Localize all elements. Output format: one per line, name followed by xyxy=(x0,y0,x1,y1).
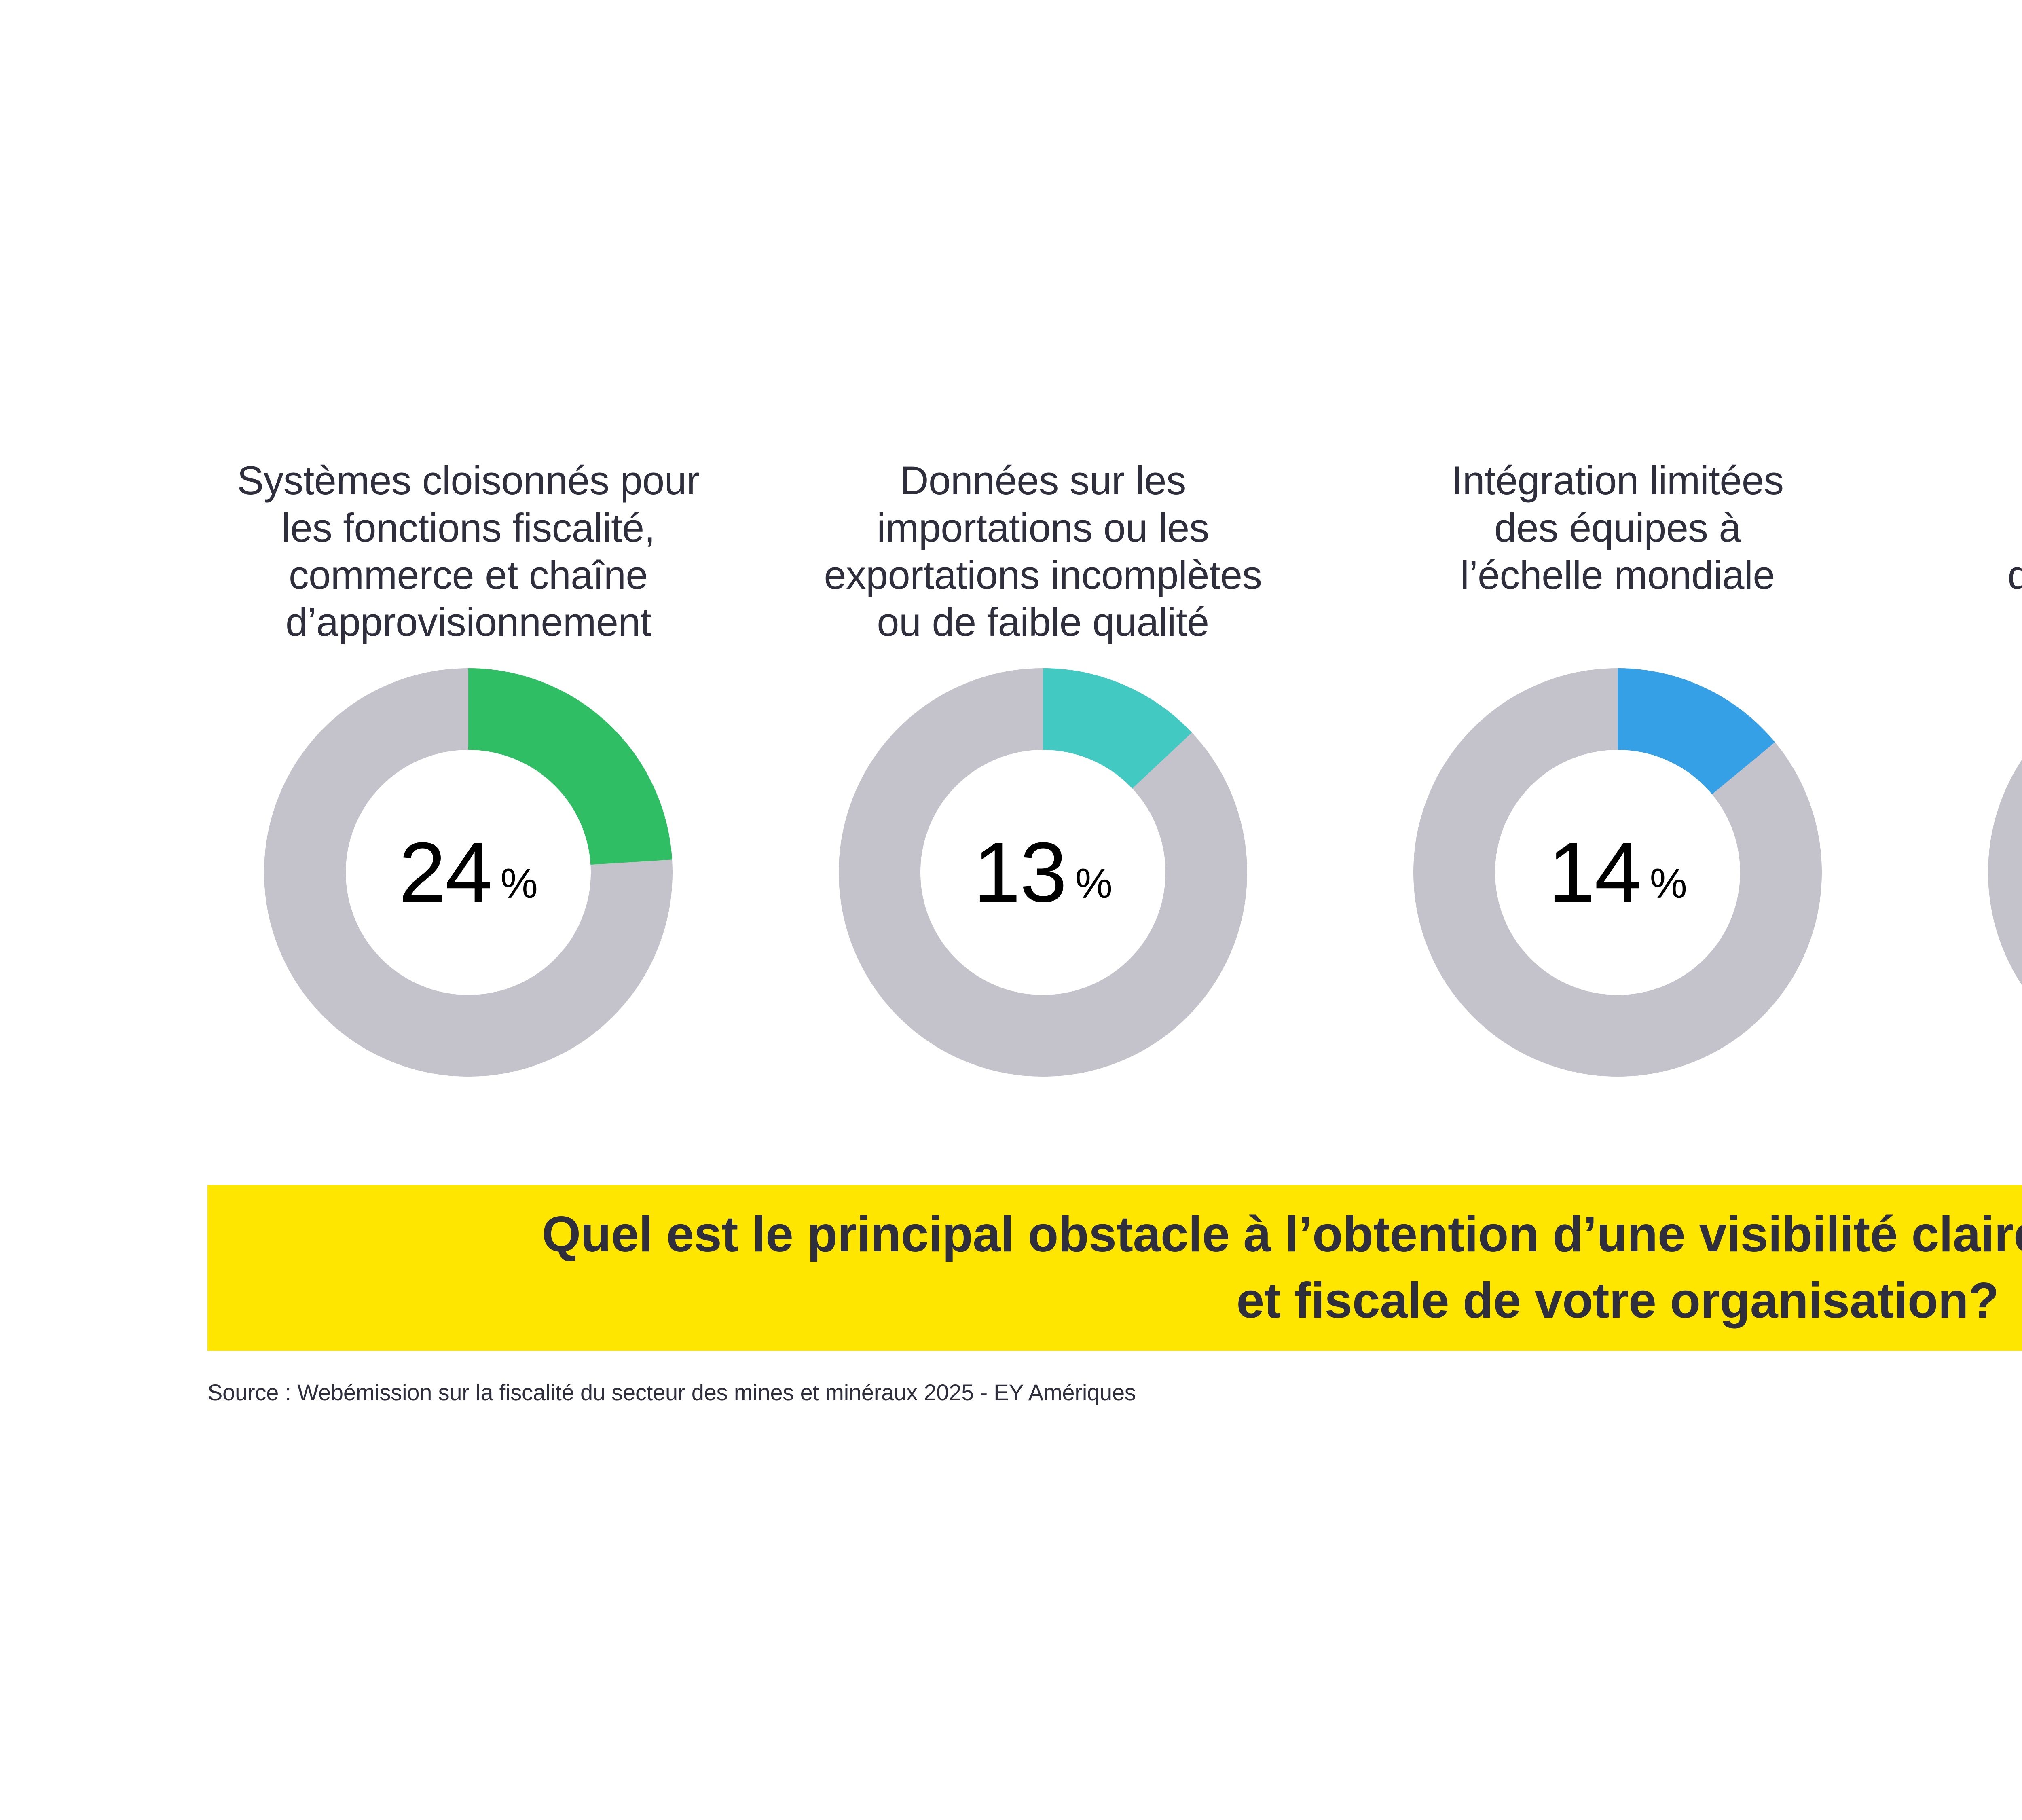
question-banner: Quel est le principal obstacle à l’obten… xyxy=(207,1185,2022,1351)
infographic-canvas: Systèmes cloisonnés pour les fonctions f… xyxy=(0,0,2022,1820)
question-banner-text: Quel est le principal obstacle à l’obten… xyxy=(542,1202,2022,1334)
donut-label-3: Intégration limitées des équipes à l’éch… xyxy=(1357,457,1878,651)
donut-cell-2: Données sur les importations ou les expo… xyxy=(782,457,1304,1077)
donut-chart-icon xyxy=(264,668,673,1077)
donut-label-1: Systèmes cloisonnés pour les fonctions f… xyxy=(207,457,729,651)
donut-cell-1: Systèmes cloisonnés pour les fonctions f… xyxy=(207,457,729,1077)
donut-cell-3: Intégration limitées des équipes à l’éch… xyxy=(1357,457,1878,1077)
donut-label-2: Données sur les importations ou les expo… xyxy=(782,457,1304,651)
donut-chart-3: 14 % xyxy=(1413,668,1822,1077)
donut-chart-icon xyxy=(839,668,1247,1077)
donut-label-4: Difficulté à prévoir les changements dan… xyxy=(1931,457,2022,651)
donut-chart-4: 42 % xyxy=(1988,668,2022,1077)
donut-chart-icon xyxy=(1988,668,2022,1077)
donut-chart-2: 13 % xyxy=(839,668,1247,1077)
donut-chart-row: Systèmes cloisonnés pour les fonctions f… xyxy=(207,457,2022,1077)
donut-cell-4: Difficulté à prévoir les changements dan… xyxy=(1931,457,2022,1077)
donut-chart-icon xyxy=(1413,668,1822,1077)
source-note: Source : Webémission sur la fiscalité du… xyxy=(207,1379,1136,1405)
donut-chart-1: 24 % xyxy=(264,668,673,1077)
